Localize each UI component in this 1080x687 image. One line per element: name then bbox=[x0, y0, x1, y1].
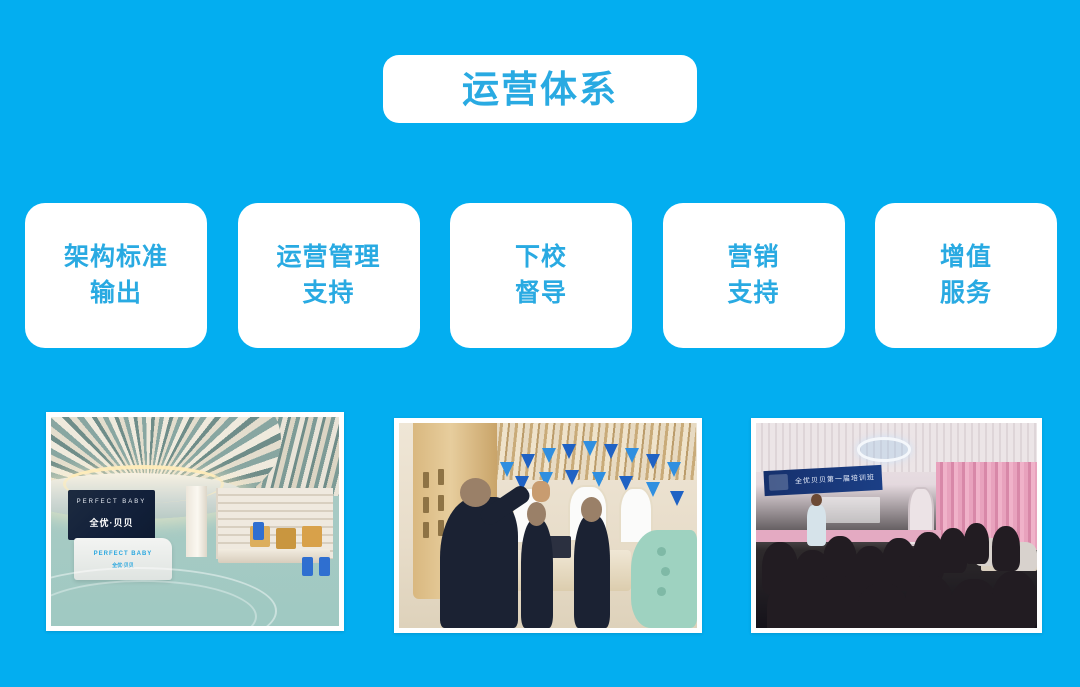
person-head bbox=[527, 502, 546, 526]
bunting-flag bbox=[565, 470, 579, 485]
counter-logo-english: PERFECT BABY bbox=[74, 551, 172, 557]
wall-sign-english: PERFECT BABY bbox=[68, 499, 154, 505]
display-blue-product bbox=[319, 557, 331, 576]
operation-system-card-row: 架构标准 输出 运营管理 支持 下校 督导 营销 支持 增值 服务 bbox=[25, 203, 1057, 348]
audience-member bbox=[964, 523, 989, 564]
card-label-line2: 服务 bbox=[940, 276, 992, 312]
photo-frame-seminar-training-classroom: 全优贝贝第一届培训班 bbox=[751, 418, 1042, 633]
card-label-line1: 下校 bbox=[515, 240, 567, 276]
page-title: 运营体系 bbox=[462, 71, 618, 108]
audience-member bbox=[905, 575, 953, 628]
staff-person bbox=[521, 519, 554, 628]
audience-member bbox=[767, 579, 818, 628]
card-value-added-service[interactable]: 增值 服务 bbox=[875, 203, 1057, 348]
person-head bbox=[811, 494, 821, 506]
audience-member bbox=[950, 579, 998, 628]
display-bench bbox=[218, 549, 330, 564]
page-title-wrapper: 运营体系 bbox=[0, 55, 1080, 123]
display-blue-product bbox=[253, 522, 265, 541]
shelf-compartment bbox=[423, 472, 429, 488]
card-label-line2: 督导 bbox=[515, 276, 567, 312]
photo-frame-store-showroom-interior: PERFECT BABY 全优·贝贝 PERFECT BABY 全优·贝贝 bbox=[46, 412, 344, 631]
green-play-structure bbox=[631, 530, 697, 628]
shelf-compartment bbox=[423, 497, 429, 513]
bunting-flag bbox=[583, 441, 597, 456]
wall-sign-chinese: 全优·贝贝 bbox=[68, 516, 154, 529]
card-label-line1: 架构标准 bbox=[64, 240, 168, 276]
bunting-flag bbox=[500, 462, 514, 477]
play-structure-hole bbox=[661, 567, 670, 576]
card-label-line1: 增值 bbox=[940, 240, 992, 276]
shelf-compartment bbox=[438, 495, 444, 511]
card-label-line2: 支持 bbox=[727, 276, 779, 312]
bunting-flag bbox=[625, 448, 639, 463]
brand-wall-sign: PERFECT BABY 全优·贝贝 bbox=[68, 490, 154, 540]
photo-frame-store-staff-training-onsite bbox=[394, 418, 702, 633]
card-operation-management-support[interactable]: 运营管理 支持 bbox=[238, 203, 420, 348]
page-title-box: 运营体系 bbox=[383, 55, 697, 123]
banner-text: 全优贝贝第一届培训班 bbox=[795, 472, 875, 486]
audience-member bbox=[992, 571, 1037, 628]
shelf-compartment bbox=[438, 469, 444, 485]
audience-member bbox=[857, 583, 908, 628]
card-label-line1: 运营管理 bbox=[276, 240, 380, 276]
audience-member bbox=[812, 575, 860, 628]
projected-slide bbox=[818, 497, 880, 524]
card-label-line2: 输出 bbox=[90, 276, 142, 312]
bunting-flag bbox=[542, 448, 556, 463]
audience-member bbox=[939, 528, 967, 573]
card-architecture-standard-output[interactable]: 架构标准 输出 bbox=[25, 203, 207, 348]
display-bag bbox=[302, 526, 322, 547]
trainer-person bbox=[440, 497, 517, 628]
card-marketing-support[interactable]: 营销 支持 bbox=[663, 203, 845, 348]
staff-person bbox=[574, 515, 610, 628]
shelf-compartment bbox=[423, 522, 429, 538]
play-structure-hole bbox=[657, 547, 666, 556]
card-school-supervision[interactable]: 下校 督导 bbox=[450, 203, 632, 348]
audience-member bbox=[992, 526, 1020, 571]
photo-store-staff-training-onsite bbox=[399, 423, 697, 628]
person-hand bbox=[532, 481, 551, 502]
event-banner: 全优贝贝第一届培训班 bbox=[764, 465, 883, 496]
ring-ceiling-light bbox=[857, 437, 911, 461]
bunting-flag bbox=[604, 444, 618, 459]
card-label-line2: 支持 bbox=[302, 276, 354, 312]
photo-seminar-training-classroom: 全优贝贝第一届培训班 bbox=[756, 423, 1037, 628]
bunting-flag bbox=[646, 454, 660, 469]
photo-store-showroom-interior: PERFECT BABY 全优·贝贝 PERFECT BABY 全优·贝贝 bbox=[51, 417, 339, 626]
play-structure-hole bbox=[657, 587, 666, 596]
person-head bbox=[460, 478, 491, 507]
person-head bbox=[581, 497, 602, 522]
bunting-flag bbox=[667, 462, 681, 477]
bunting-flag bbox=[562, 444, 576, 459]
presenter-person bbox=[807, 505, 827, 546]
bunting-flag bbox=[670, 491, 684, 506]
card-label-line1: 营销 bbox=[727, 240, 779, 276]
bunting-flag bbox=[521, 454, 535, 469]
display-bag bbox=[276, 528, 296, 549]
display-blue-product bbox=[302, 557, 314, 576]
interior-pillar bbox=[186, 486, 206, 557]
photo-gallery-row: PERFECT BABY 全优·贝贝 PERFECT BABY 全优·贝贝 bbox=[46, 412, 1042, 633]
banner-logo bbox=[769, 474, 789, 490]
